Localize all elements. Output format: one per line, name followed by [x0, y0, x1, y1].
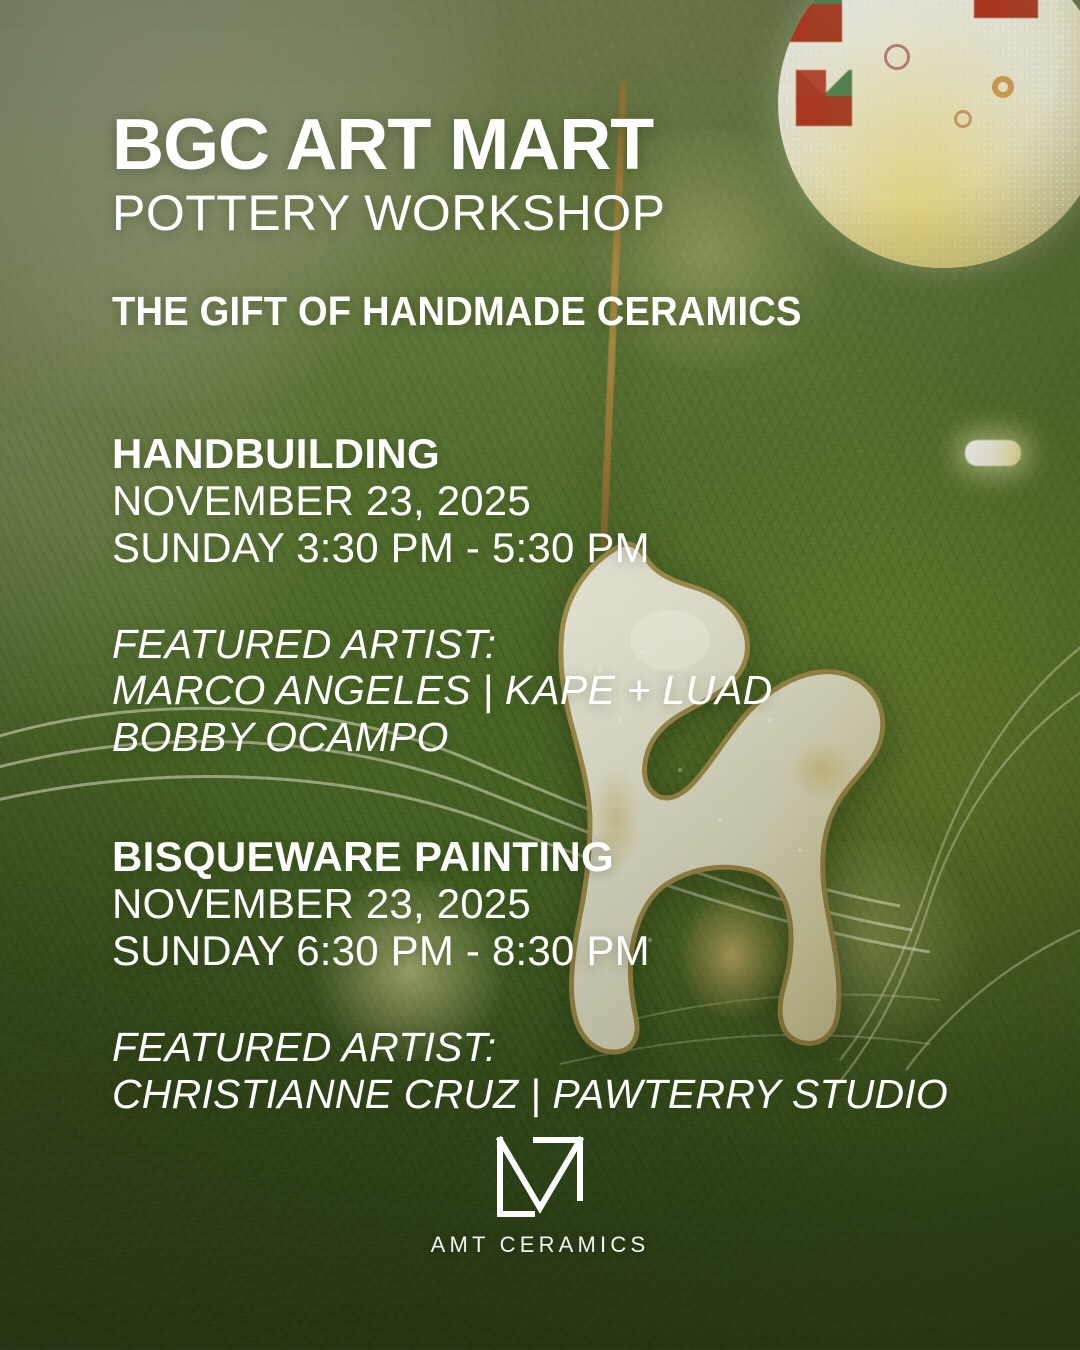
featured-artist-block: FEATURED ARTIST: CHRISTIANNE CRUZ | PAWT… — [112, 1024, 1020, 1117]
session-handbuilding: HANDBUILDING NOVEMBER 23, 2025 SUNDAY 3:… — [112, 430, 1020, 761]
poster-content: BGC ART MART POTTERY WORKSHOP THE GIFT O… — [0, 0, 1080, 1350]
session-date: NOVEMBER 23, 2025 — [112, 880, 1020, 927]
featured-artist-name: CHRISTIANNE CRUZ | PAWTERRY STUDIO — [112, 1071, 1020, 1118]
featured-artist-label: FEATURED ARTIST: — [112, 1024, 1020, 1071]
featured-artist-block: FEATURED ARTIST: MARCO ANGELES | KAPE + … — [112, 621, 1020, 761]
session-date: NOVEMBER 23, 2025 — [112, 477, 1020, 524]
page-title: BGC ART MART — [112, 110, 1020, 181]
poster: BGC ART MART POTTERY WORKSHOP THE GIFT O… — [0, 0, 1080, 1350]
amt-monogram-icon — [492, 1136, 588, 1218]
page-tagline: THE GIFT OF HANDMADE CERAMICS — [112, 289, 956, 334]
text-stack: BGC ART MART POTTERY WORKSHOP THE GIFT O… — [112, 110, 1020, 1118]
session-name: HANDBUILDING — [112, 430, 1020, 477]
brand-wordmark: AMT CERAMICS — [431, 1232, 650, 1258]
brand-logo: AMT CERAMICS — [0, 1136, 1080, 1258]
session-bisqueware-painting: BISQUEWARE PAINTING NOVEMBER 23, 2025 SU… — [112, 833, 1020, 1118]
featured-artist-name: MARCO ANGELES | KAPE + LUAD — [112, 667, 1020, 714]
page-subtitle: POTTERY WORKSHOP — [112, 185, 1020, 241]
session-name: BISQUEWARE PAINTING — [112, 833, 1020, 880]
session-time: SUNDAY 3:30 PM - 5:30 PM — [112, 524, 1020, 571]
session-time: SUNDAY 6:30 PM - 8:30 PM — [112, 927, 1020, 974]
featured-artist-name: BOBBY OCAMPO — [112, 714, 1020, 761]
featured-artist-label: FEATURED ARTIST: — [112, 621, 1020, 668]
